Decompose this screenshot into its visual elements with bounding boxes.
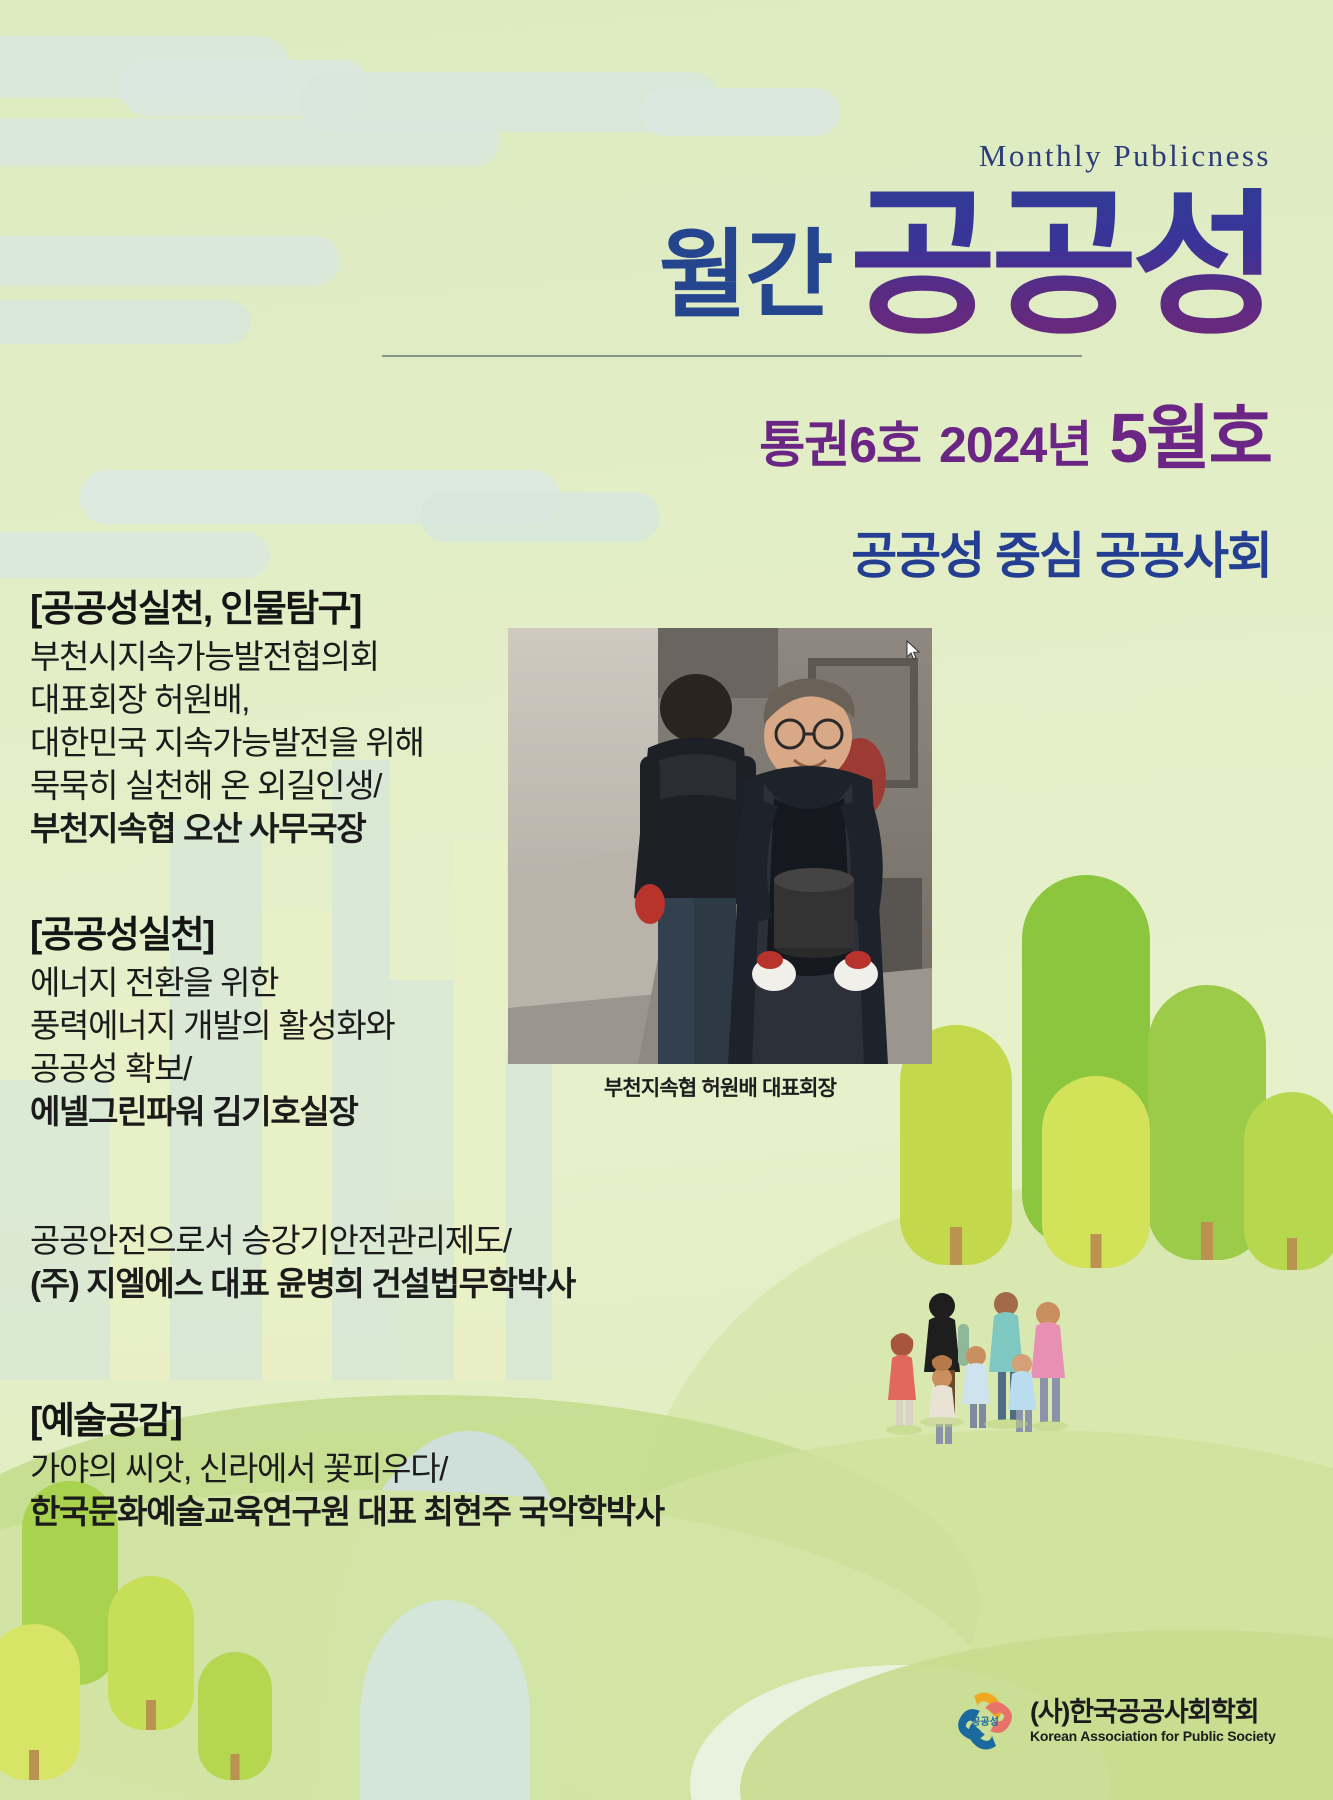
- tree-decoration: [108, 1552, 194, 1730]
- issue-year: 2024년: [939, 405, 1091, 477]
- tree-decoration: [198, 1630, 272, 1780]
- section-byline: 한국문화예술교육연구원 대표 최현주 국악학박사: [30, 1491, 730, 1534]
- cloud-shape: [0, 236, 340, 286]
- subheadline: 공공성 중심 공공사회: [851, 516, 1271, 588]
- contents-column: [공공성실천, 인물탐구] 부천시지속가능발전협의회 대표회장 허원배, 대한민…: [30, 578, 730, 1544]
- eyebrow-monthly-publicness: Monthly Publicness: [979, 138, 1271, 174]
- association-logo: 공공성 (사)한국공공사회학회 Korean Association for P…: [952, 1690, 1276, 1752]
- cloud-shape: [420, 492, 660, 542]
- section-line: 풍력에너지 개발의 활성화와: [30, 1005, 730, 1048]
- block-spacer: [30, 1316, 730, 1390]
- title-prefix: 월간: [659, 228, 850, 340]
- section-heading: [예술공감]: [30, 1390, 730, 1444]
- section-byline: (주) 지엘에스 대표 윤병희 건설법무학박사: [30, 1263, 730, 1306]
- title-divider-rule: [382, 355, 1082, 357]
- title-main: 공공성: [849, 188, 1273, 340]
- section-line: 묵묵히 실천해 온 외길인생/: [30, 765, 730, 808]
- logo-mark-label: 공공성: [971, 1715, 999, 1728]
- issue-line: 통권6호 2024년 5월호: [759, 382, 1271, 483]
- mouse-cursor-icon: [905, 640, 921, 662]
- content-block: [공공성실천, 인물탐구] 부천시지속가능발전협의회 대표회장 허원배, 대한민…: [30, 578, 730, 850]
- section-heading: [공공성실천, 인물탐구]: [30, 578, 730, 632]
- logo-mark-icon: 공공성: [952, 1690, 1018, 1752]
- content-block: [공공성실천] 에너지 전환을 위한 풍력에너지 개발의 활성화와 공공성 확보…: [30, 904, 730, 1134]
- logo-text: (사)한국공공사회학회 Korean Association for Publi…: [1030, 1697, 1276, 1744]
- section-line: 부천시지속가능발전협의회: [30, 636, 730, 679]
- section-byline: 부천지속협 오산 사무국장: [30, 808, 730, 851]
- section-line: 가야의 씨앗, 신라에서 꽃피우다/: [30, 1448, 730, 1491]
- block-spacer: [30, 1144, 730, 1220]
- logo-name-kr: (사)한국공공사회학회: [1030, 1697, 1276, 1728]
- tree-decoration: [1244, 1065, 1333, 1270]
- magazine-cover-poster: Monthly Publicness 월간 공공성 통권6호 2024년 5월호…: [0, 0, 1333, 1800]
- section-byline: 에넬그린파워 김기호실장: [30, 1091, 730, 1134]
- section-line: 공공안전으로서 승강기안전관리제도/: [30, 1220, 730, 1263]
- issue-month: 5월호: [1109, 382, 1271, 483]
- cloud-shape: [640, 88, 840, 136]
- tree-decoration: [1042, 1048, 1150, 1268]
- content-block: [예술공감] 가야의 씨앗, 신라에서 꽃피우다/ 한국문화예술교육연구원 대표…: [30, 1390, 730, 1534]
- block-spacer: [30, 860, 730, 904]
- cloud-shape: [0, 532, 270, 578]
- tree-decoration: [0, 1600, 80, 1780]
- cloud-shape: [0, 300, 250, 344]
- section-heading: [공공성실천]: [30, 904, 730, 958]
- section-line: 에너지 전환을 위한: [30, 962, 730, 1005]
- issue-volume: 통권6호: [759, 405, 921, 477]
- masthead-title: 월간 공공성: [659, 188, 1273, 340]
- people-group-illustration: [880, 1290, 1100, 1450]
- logo-name-en: Korean Association for Public Society: [1030, 1728, 1276, 1744]
- content-block: 공공안전으로서 승강기안전관리제도/ (주) 지엘에스 대표 윤병희 건설법무학…: [30, 1220, 730, 1306]
- section-line: 대한민국 지속가능발전을 위해: [30, 722, 730, 765]
- section-line: 공공성 확보/: [30, 1048, 730, 1091]
- section-line: 대표회장 허원배,: [30, 679, 730, 722]
